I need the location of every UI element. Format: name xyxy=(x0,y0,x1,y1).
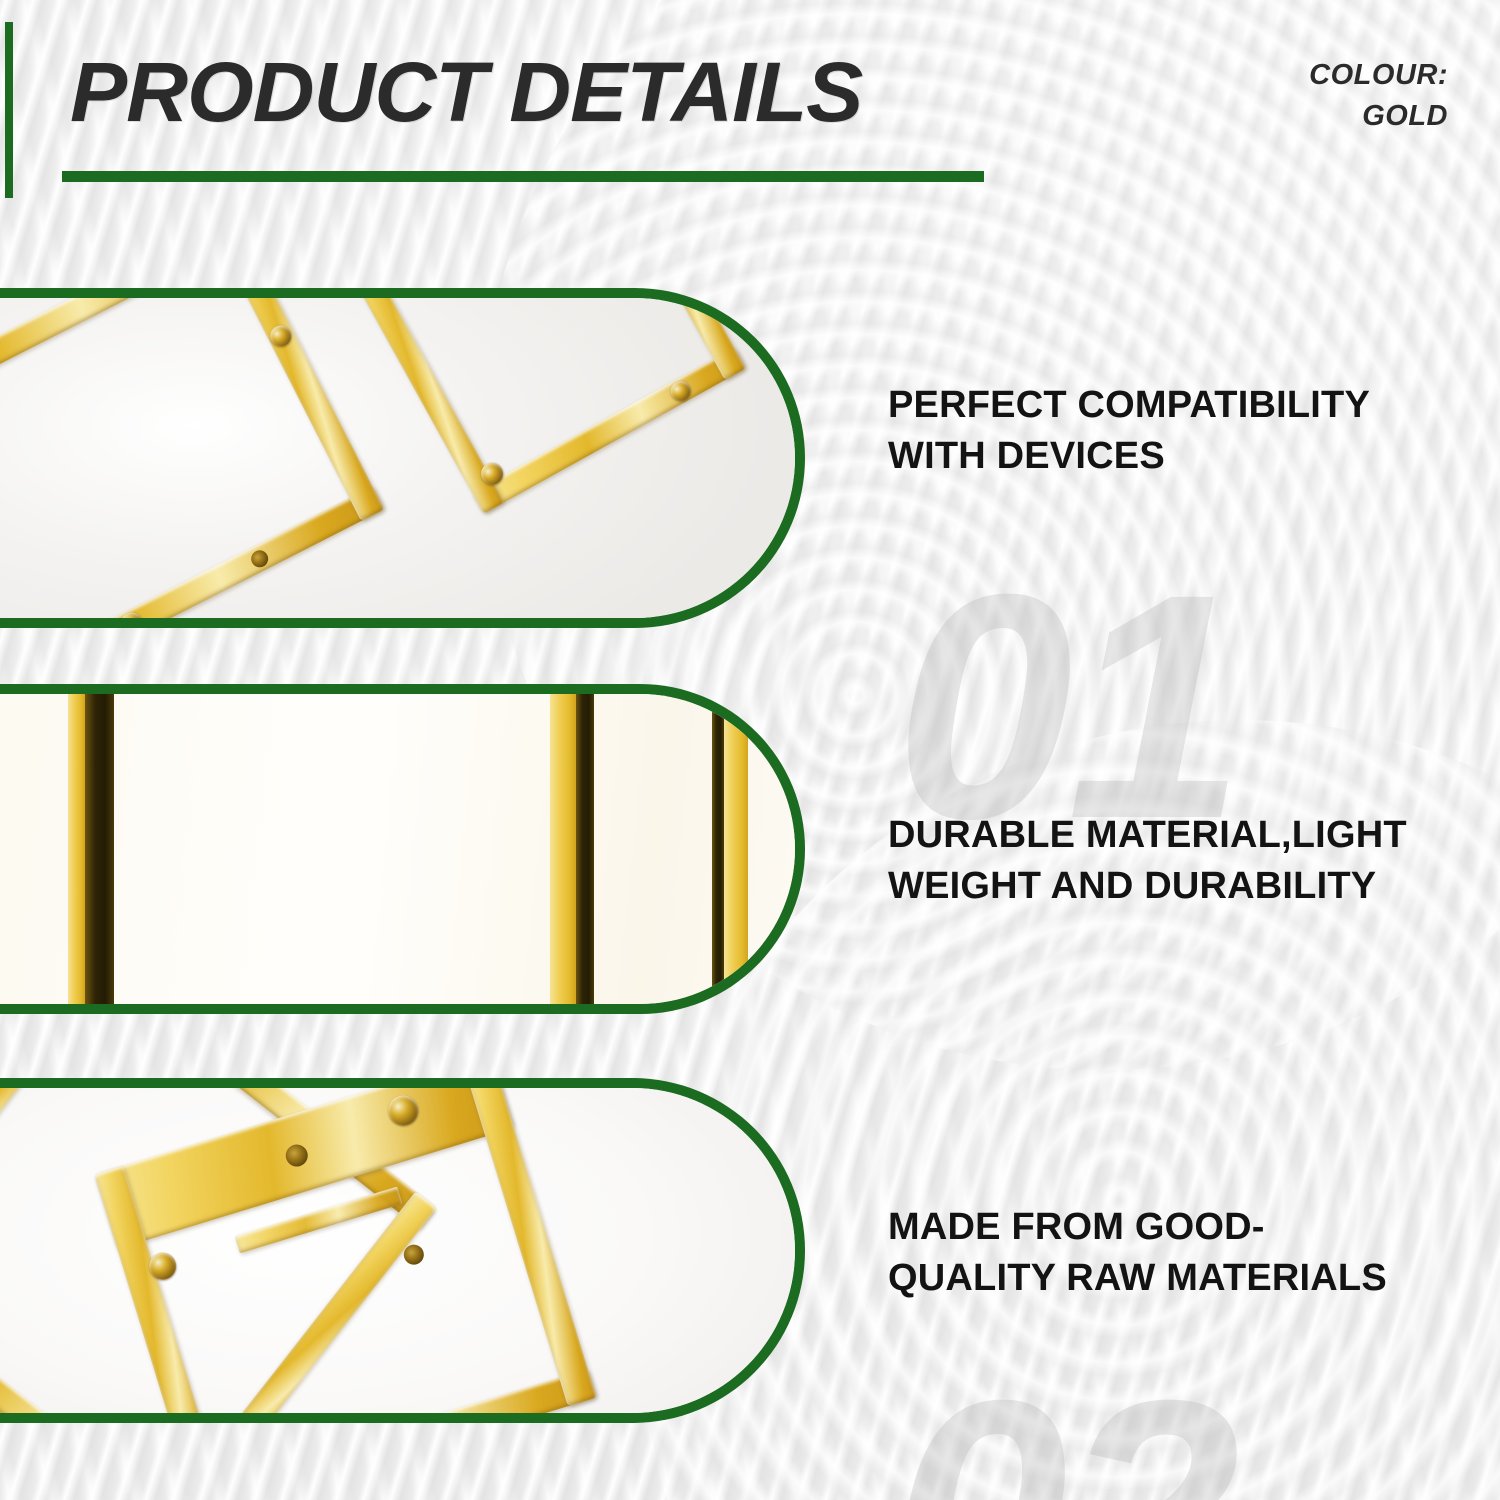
feature-number-watermark-2: 02 xyxy=(890,1352,1234,1500)
gold-strip-1 xyxy=(68,688,114,1010)
feature-photo-panel-3 xyxy=(0,1078,805,1423)
page-title: PRODUCT DETAILS xyxy=(70,44,862,141)
product-photo-1 xyxy=(0,298,795,618)
feature-text-3: MADE FROM GOOD-QUALITY RAW MATERIALS xyxy=(888,1202,1428,1303)
colour-label: COLOUR: GOLD xyxy=(1128,55,1448,137)
photo-backdrop xyxy=(0,694,795,1004)
feature-text-1: PERFECT COMPATIBILITY WITH DEVICES xyxy=(888,380,1428,481)
feature-photo-panel-2 xyxy=(0,684,805,1014)
product-photo-3 xyxy=(0,1088,795,1413)
feature-photo-panel-1 xyxy=(0,288,805,628)
infographic-canvas: PRODUCT DETAILS COLOUR: GOLD xyxy=(0,0,1500,1500)
gold-strip-3 xyxy=(712,688,748,1010)
left-accent-bar xyxy=(5,22,13,198)
product-photo-2 xyxy=(0,694,795,1004)
gold-strip-2 xyxy=(550,688,594,1010)
feature-text-2: DURABLE MATERIAL,LIGHT WEIGHT AND DURABI… xyxy=(888,810,1428,911)
title-underline xyxy=(62,171,984,182)
colour-label-line1: COLOUR: xyxy=(1128,55,1448,96)
colour-label-line2: GOLD xyxy=(1128,96,1448,137)
